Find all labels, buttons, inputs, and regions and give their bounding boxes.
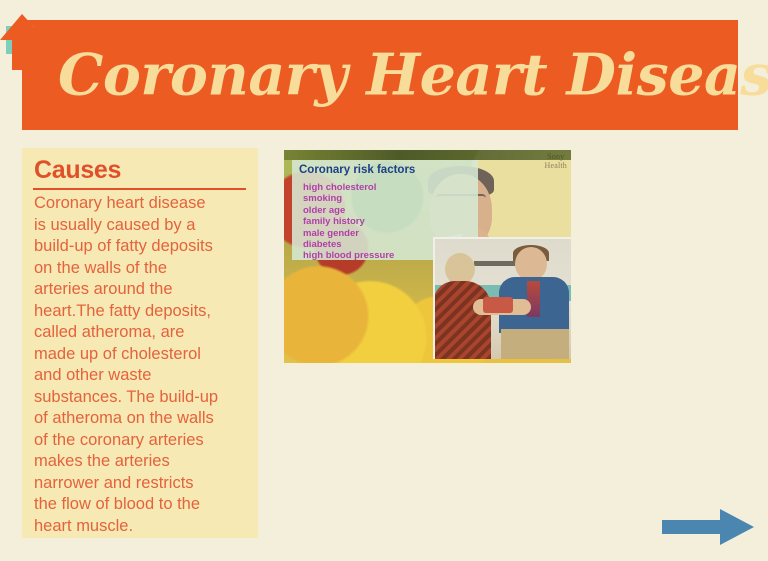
patient-body — [433, 281, 491, 359]
next-slide-arrow-button[interactable] — [662, 507, 754, 547]
list-item: high cholesterol — [303, 182, 394, 193]
list-item: older age — [303, 205, 394, 216]
causes-body-text: Coronary heart disease is usually caused… — [34, 193, 252, 537]
clinician-head — [515, 247, 547, 281]
arrow-right-icon — [662, 509, 754, 545]
risk-factors-list: high cholesterol smoking older age famil… — [303, 182, 394, 262]
risk-factors-photo: Coronary risk factors high cholesterol s… — [284, 150, 571, 363]
causes-panel: Causes Coronary heart disease is usually… — [22, 148, 258, 538]
photo-top-shadow — [284, 150, 571, 160]
risk-card-title: Coronary risk factors — [299, 164, 415, 176]
slide-canvas: Coronary Heart Disease Causes Coronary h… — [0, 0, 768, 561]
list-item: male gender — [303, 228, 394, 239]
clinician-legs — [501, 329, 569, 359]
causes-heading-underline — [33, 188, 246, 190]
title-banner: Coronary Heart Disease — [22, 20, 738, 130]
page-title: Coronary Heart Disease — [58, 47, 768, 104]
blood-pressure-cuff — [483, 297, 513, 313]
list-item: high blood pressure — [303, 250, 394, 261]
causes-heading: Causes — [34, 156, 121, 185]
list-item: diabetes — [303, 239, 394, 250]
blood-pressure-inset-photo — [433, 237, 571, 359]
photo-watermark: Sony Health — [544, 153, 567, 170]
list-item: family history — [303, 216, 394, 227]
list-item: smoking — [303, 193, 394, 204]
